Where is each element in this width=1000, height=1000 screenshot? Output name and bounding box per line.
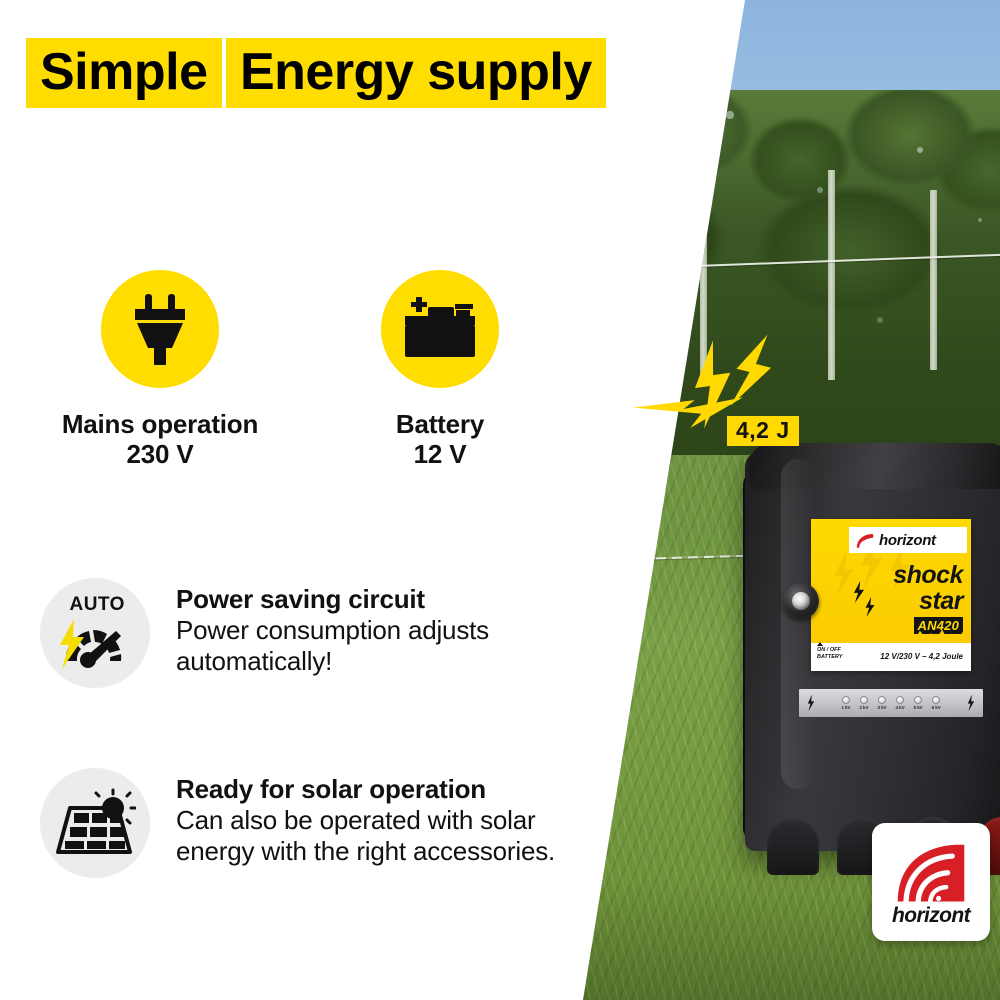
battery-glyph xyxy=(401,296,479,362)
led-label: 3 kV xyxy=(877,705,886,710)
feature-title: Ready for solar operation xyxy=(176,774,556,805)
product-label: horizont shock star AN420 ON / OFF BATTE… xyxy=(811,519,971,671)
grass-shadow xyxy=(0,880,1000,1000)
led-label: 6 kV xyxy=(932,705,941,710)
birch-trunk xyxy=(828,170,835,380)
led-dot xyxy=(914,696,922,704)
feature-text-block: Ready for solar operation Can also be op… xyxy=(176,768,556,867)
horizont-logo-icon xyxy=(893,841,969,903)
feature-text-block: Power saving circuit Power consumption a… xyxy=(176,578,556,677)
label-brand-text: horizont xyxy=(879,532,936,549)
switch-label: ON / OFF BATTERY xyxy=(817,647,842,661)
solar-glyph xyxy=(54,788,136,858)
feature-body: Can also be operated with solar energy w… xyxy=(176,805,556,867)
label-bolt-icon xyxy=(829,551,859,597)
label-black-bolt-icon xyxy=(863,597,877,617)
product-model: AN420 xyxy=(914,617,963,634)
fence-energiser-device: horizont shock star AN420 ON / OFF BATTE… xyxy=(745,451,1000,871)
auto-label: AUTO xyxy=(69,594,124,616)
bolt-icon-right xyxy=(966,695,976,712)
led-label: 5 kV xyxy=(914,705,923,710)
feature-power-saving: AUTO Power saving circuit Power consumpt… xyxy=(40,578,556,688)
device-highlight xyxy=(781,459,815,789)
energy-badge: 4,2 J xyxy=(727,416,799,446)
led-indicator: 3 kV xyxy=(877,696,886,710)
led-dot xyxy=(932,696,940,704)
voltage-indicator-strip: 1 kV 2 kV 3 kV 4 kV xyxy=(799,689,983,717)
bolt-icon-left xyxy=(806,695,816,712)
led-dot xyxy=(896,696,904,704)
power-option-value: 230 V xyxy=(127,439,194,470)
brand-logo-badge: horizont xyxy=(872,823,990,941)
power-option-battery: Battery 12 V xyxy=(340,270,540,470)
birch-trunk xyxy=(930,190,937,370)
feature-body: Power consumption adjusts automatically! xyxy=(176,615,556,677)
led-dot xyxy=(842,696,850,704)
led-label: 4 kV xyxy=(896,705,905,710)
power-switch-knob[interactable] xyxy=(783,583,819,619)
page-title: Simple Energy supply xyxy=(26,26,606,108)
infographic-canvas: horizont shock star AN420 ON / OFF BATTE… xyxy=(0,0,1000,1000)
gauge-glyph xyxy=(58,615,132,671)
led-label: 2 kV xyxy=(859,705,868,710)
power-option-title: Mains operation xyxy=(62,410,258,439)
led-indicator: 4 kV xyxy=(896,696,905,710)
label-brand-strip: horizont xyxy=(849,527,967,553)
auto-gauge-icon: AUTO xyxy=(40,578,150,688)
led-group: 1 kV 2 kV 3 kV 4 kV xyxy=(841,696,940,710)
device-terminal xyxy=(767,817,819,875)
solar-panel-icon xyxy=(40,768,150,878)
label-info-strip: ON / OFF BATTERY 12 V/230 V – 4,2 Joule xyxy=(811,643,971,671)
product-spec-text: 12 V/230 V – 4,2 Joule xyxy=(880,652,963,661)
led-indicator: 1 kV xyxy=(841,696,850,710)
product-name-line1: shock xyxy=(893,561,963,590)
led-indicator: 2 kV xyxy=(859,696,868,710)
switch-label-line2: BATTERY xyxy=(817,654,842,660)
switch-label-line1: ON / OFF xyxy=(817,647,841,653)
plug-glyph xyxy=(124,290,196,368)
feature-solar-ready: Ready for solar operation Can also be op… xyxy=(40,768,556,878)
brand-logo-text: horizont xyxy=(892,904,970,928)
feature-title: Power saving circuit xyxy=(176,584,556,615)
label-yellow-field: horizont shock star AN420 xyxy=(811,519,971,643)
led-indicator: 5 kV xyxy=(914,696,923,710)
led-indicator: 6 kV xyxy=(932,696,941,710)
led-dot xyxy=(878,696,886,704)
power-option-value: 12 V xyxy=(414,439,467,470)
headline-line-2: Energy supply xyxy=(226,38,606,108)
headline-line-1: Simple xyxy=(26,38,222,108)
switch-marker-icon xyxy=(817,642,823,646)
car-battery-icon xyxy=(381,270,499,388)
led-label: 1 kV xyxy=(841,705,850,710)
power-plug-icon xyxy=(101,270,219,388)
led-dot xyxy=(860,696,868,704)
horizont-mark-icon xyxy=(855,532,875,549)
power-option-mains: Mains operation 230 V xyxy=(60,270,260,470)
power-option-title: Battery xyxy=(396,410,484,439)
power-options-row: Mains operation 230 V Battery 12 V xyxy=(60,270,540,470)
product-name-line2: star xyxy=(919,587,963,616)
